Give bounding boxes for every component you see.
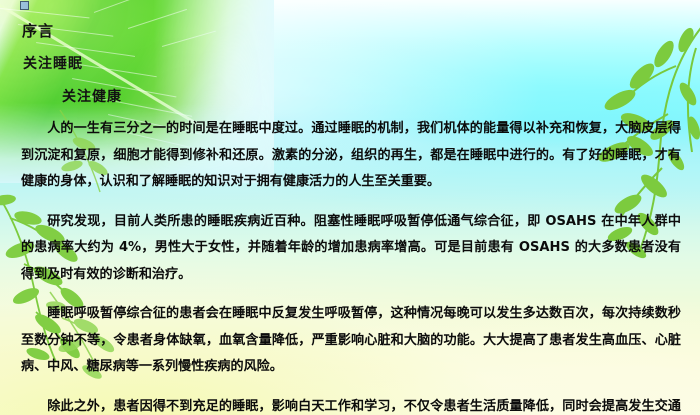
paragraph-1: 人的一生有三分之一的时间是在睡眠中度过。通过睡眠的机制，我们机体的能量得以补充和… — [21, 116, 681, 196]
page-title: 序言 — [22, 20, 54, 41]
paragraph-3: 睡眠呼吸暂停综合征的患者会在睡眠中反复发生呼吸暂停，这种情况每晚可以发生多达数百… — [21, 301, 681, 381]
subtitle-health: 关注健康 — [62, 86, 122, 106]
body-copy: 人的一生有三分之一的时间是在睡眠中度过。通过睡眠的机制，我们机体的能量得以补充和… — [21, 116, 681, 415]
subtitle-sleep: 关注睡眠 — [23, 53, 83, 73]
text-layer: 序言 关注睡眠 关注健康 人的一生有三分之一的时间是在睡眠中度过。通过睡眠的机制… — [0, 0, 700, 415]
paragraph-4: 除此之外，患者因得不到充足的睡眠，影响白天工作和学习，不仅令患者生活质量降低，同… — [21, 394, 681, 415]
slide-canvas: 序言 关注睡眠 关注健康 人的一生有三分之一的时间是在睡眠中度过。通过睡眠的机制… — [0, 0, 700, 415]
paragraph-2: 研究发现，目前人类所患的睡眠疾病近百种。阻塞性睡眠呼吸暂停低通气综合征，即 OS… — [21, 209, 681, 289]
